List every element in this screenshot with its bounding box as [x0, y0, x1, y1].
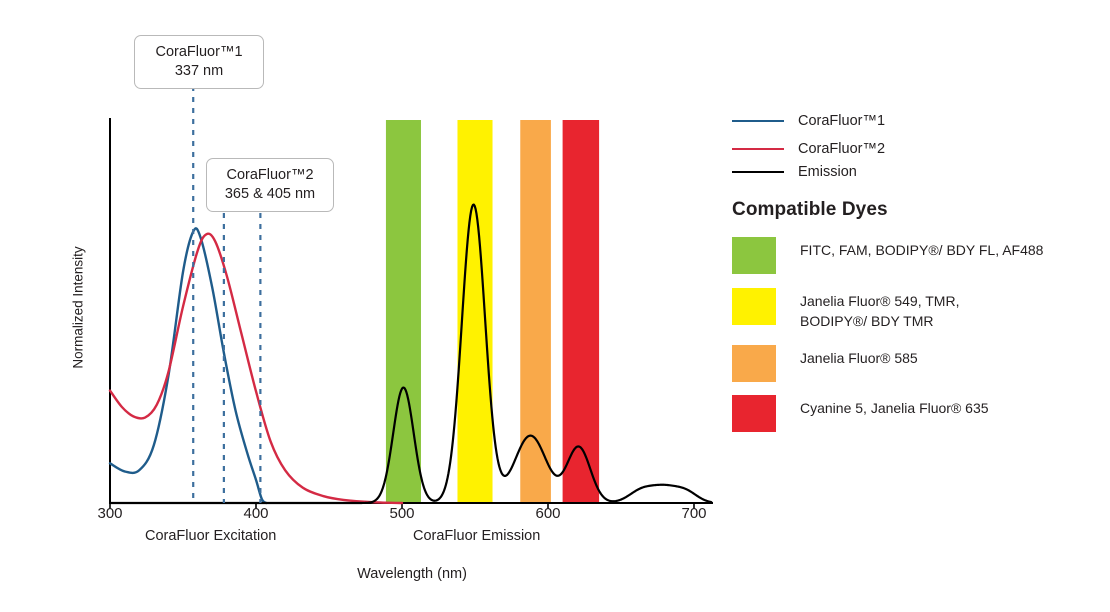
dye-label-yellow: Janelia Fluor® 549, TMR, BODIPY®/ BDY TM…: [800, 288, 959, 332]
excitation-band-label: CoraFluor Excitation: [145, 528, 276, 544]
legend-label-corafluor2: CoraFluor™2: [798, 141, 885, 157]
dye-label-red: Cyanine 5, Janelia Fluor® 635: [800, 395, 989, 419]
legend-line-corafluor1: [732, 120, 784, 122]
xtick-700: 700: [664, 505, 724, 522]
xtick-300: 300: [80, 505, 140, 522]
legend-line-corafluor2: [732, 148, 784, 150]
compatible-dyes-title: Compatible Dyes: [732, 199, 888, 221]
dye-swatch-red: [732, 395, 776, 432]
callout-1-value: 337 nm: [147, 62, 251, 81]
dye-band-red-band: [563, 120, 600, 503]
xtick-400: 400: [226, 505, 286, 522]
dye-item-green: FITC, FAM, BODIPY®/ BDY FL, AF488: [732, 237, 1043, 274]
legend-item-corafluor1: CoraFluor™1: [732, 113, 885, 129]
figure-root: 300 400 500 600 700 CoraFluor Excitation…: [0, 0, 1110, 612]
emission-band-label: CoraFluor Emission: [413, 528, 540, 544]
legend-panel: CoraFluor™1 CoraFluor™2 Emission Compati…: [728, 0, 1110, 612]
callout-1-title: CoraFluor™1: [155, 44, 242, 60]
dye-item-yellow: Janelia Fluor® 549, TMR, BODIPY®/ BDY TM…: [732, 288, 959, 332]
callout-2-title: CoraFluor™2: [226, 167, 313, 183]
dye-label-orange: Janelia Fluor® 585: [800, 345, 918, 369]
xtick-500: 500: [372, 505, 432, 522]
callout-2-value: 365 & 405 nm: [219, 185, 321, 204]
legend-label-emission: Emission: [798, 164, 857, 180]
xtick-600: 600: [518, 505, 578, 522]
dye-swatch-orange: [732, 345, 776, 382]
callout-corafluor1: CoraFluor™1 337 nm: [134, 35, 264, 89]
curve-excitation-2: [110, 234, 402, 503]
legend-item-emission: Emission: [732, 164, 857, 180]
dye-item-red: Cyanine 5, Janelia Fluor® 635: [732, 395, 989, 432]
curve-excitation-1: [110, 228, 266, 503]
dye-swatch-yellow: [732, 288, 776, 325]
y-axis-title: Normalized Intensity: [71, 218, 86, 398]
dye-band-orange-band: [520, 120, 551, 503]
x-axis-title: Wavelength (nm): [292, 566, 532, 582]
legend-line-emission: [732, 171, 784, 173]
legend-label-corafluor1: CoraFluor™1: [798, 113, 885, 129]
dye-swatch-green: [732, 237, 776, 274]
callout-corafluor2: CoraFluor™2 365 & 405 nm: [206, 158, 334, 212]
legend-item-corafluor2: CoraFluor™2: [732, 141, 885, 157]
dye-label-green: FITC, FAM, BODIPY®/ BDY FL, AF488: [800, 237, 1043, 261]
spectra-chart: 300 400 500 600 700 CoraFluor Excitation…: [0, 0, 720, 612]
dye-item-orange: Janelia Fluor® 585: [732, 345, 918, 382]
